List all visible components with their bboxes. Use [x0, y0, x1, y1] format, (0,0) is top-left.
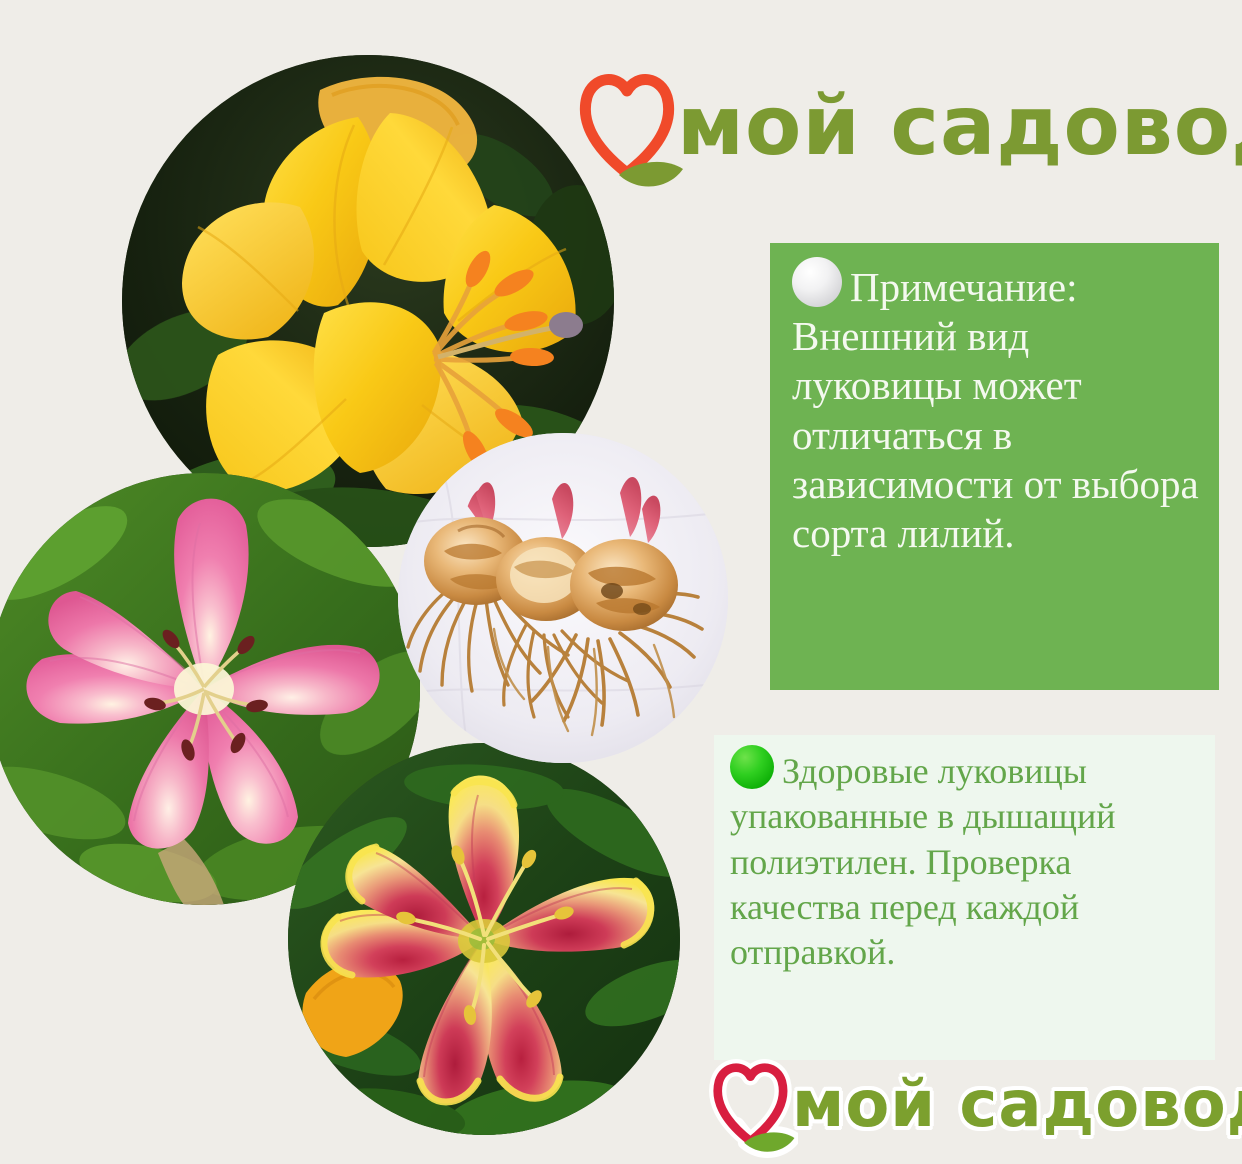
silver-circle-bullet-icon [792, 257, 842, 307]
note-primary-body: Внешний вид луковицы может отличаться в … [792, 313, 1199, 556]
note-primary-heading: Примечание: [850, 264, 1077, 310]
note-secondary-text: Здоровые луковицы упакованные в дышащий … [730, 745, 1201, 976]
green-circle-bullet-icon [730, 745, 774, 789]
note-secondary: Здоровые луковицы упакованные в дышащий … [714, 735, 1215, 1060]
note-primary-text: Примечание: Внешний вид луковицы может о… [792, 257, 1201, 558]
heart-leaf-icon-watermark [706, 1050, 798, 1160]
note-secondary-body: Здоровые луковицы упакованные в дышащий … [730, 751, 1116, 972]
photo-red-yellow-lily [288, 743, 680, 1135]
brand-wordmark: мой садовод [677, 86, 1242, 168]
brand-logo-bottom: мой садовод [706, 1046, 1226, 1164]
photo-lily-bulbs [398, 433, 728, 763]
brand-logo-top: мой садовод [573, 52, 1223, 202]
brand-wordmark-watermark: мой садовод [792, 1073, 1242, 1137]
heart-leaf-icon [573, 57, 685, 197]
note-primary: Примечание: Внешний вид луковицы может о… [770, 243, 1219, 690]
promo-canvas: мой садовод Примечание: Внешний вид луко… [0, 0, 1242, 1164]
